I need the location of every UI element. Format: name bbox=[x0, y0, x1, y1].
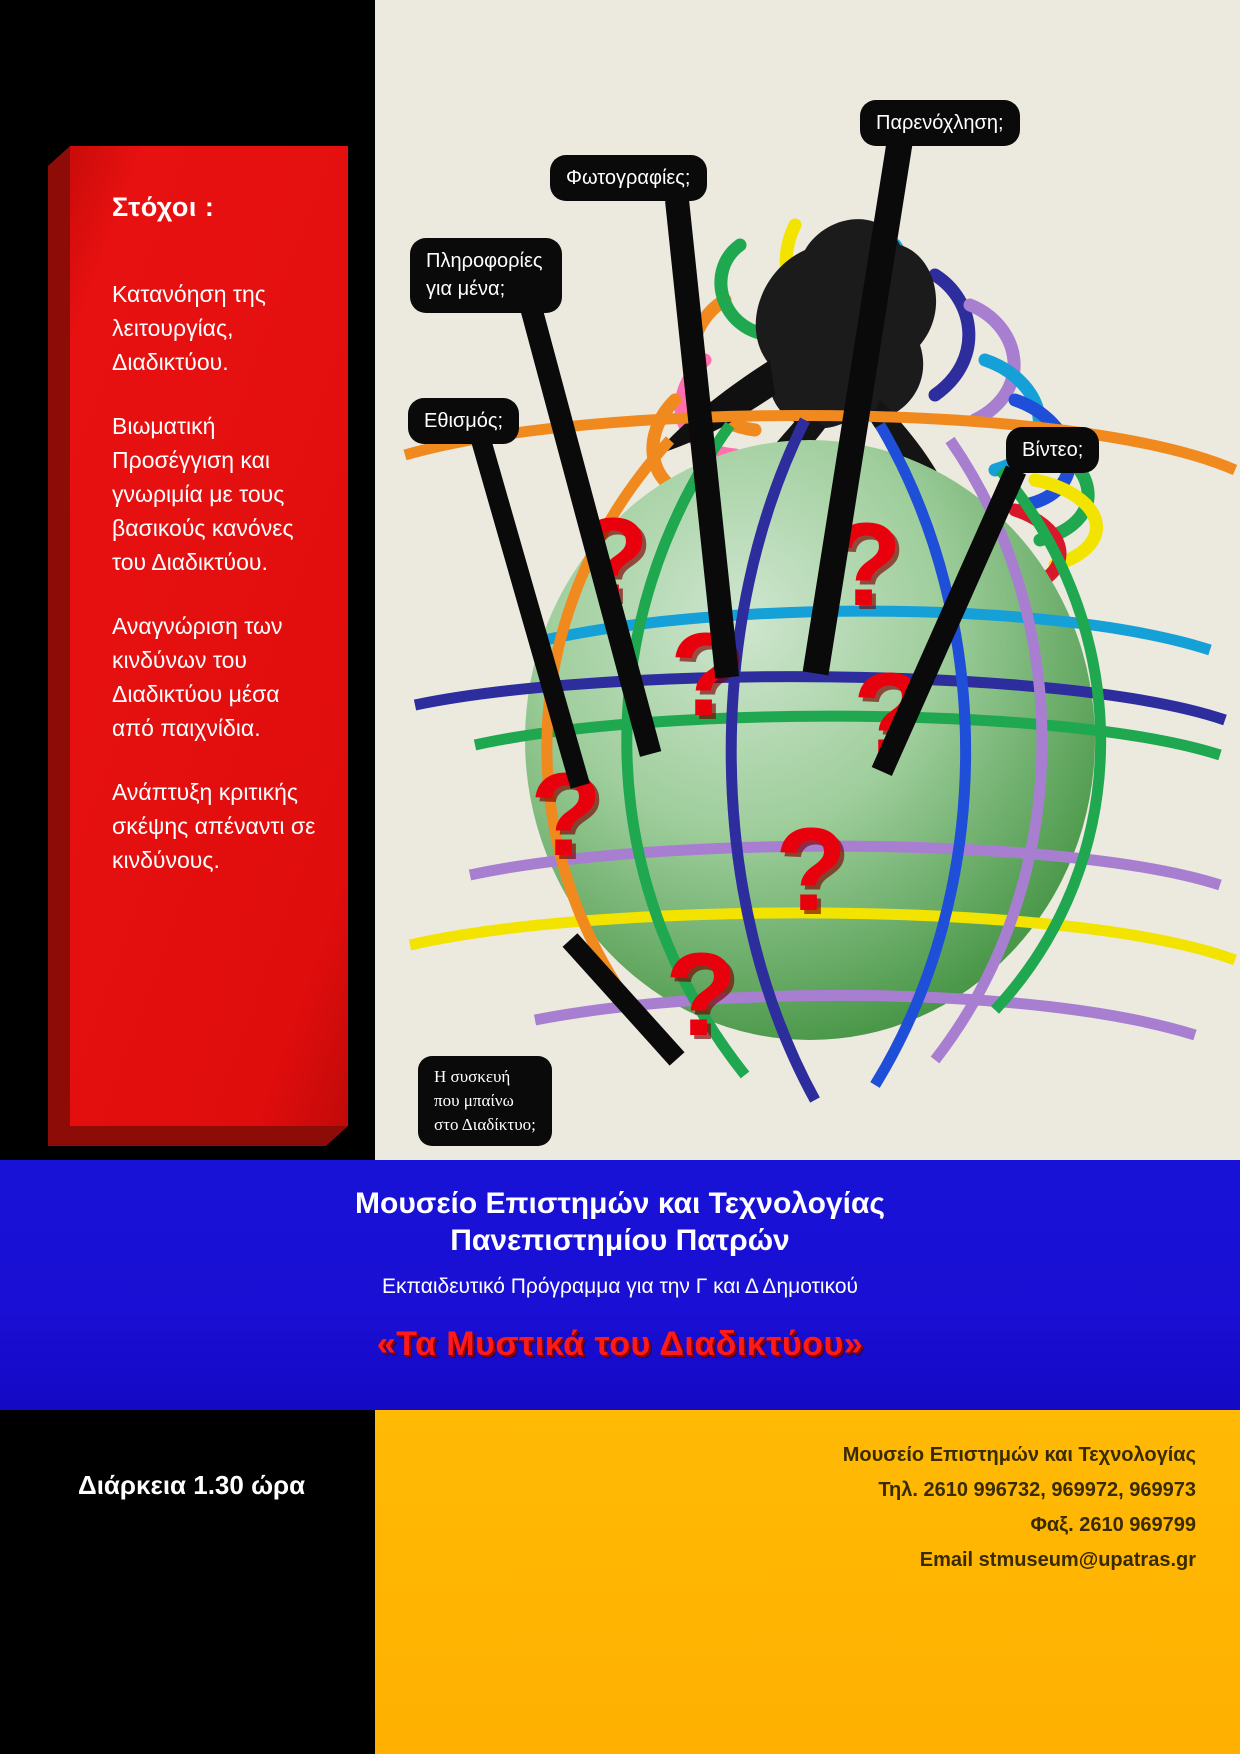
objective-item: Ανάπτυξη κριτικής σκέψης απέναντι σε κιν… bbox=[112, 775, 320, 877]
museum-name-line2: Πανεπιστημίου Πατρών bbox=[0, 1223, 1240, 1260]
callout-photos[interactable]: Φωτογραφίες; bbox=[550, 155, 707, 201]
question-mark: ? bbox=[665, 929, 737, 1061]
objectives-title: Στόχοι : bbox=[112, 192, 320, 223]
museum-name-line1: Μουσείο Επιστημών και Τεχνολογίας bbox=[0, 1186, 1240, 1223]
program-title: «Τα Μυστικά του Διαδικτύου» bbox=[0, 1325, 1240, 1364]
objective-item: Αναγνώριση των κινδύνων του Διαδικτύου μ… bbox=[112, 609, 320, 745]
contact-line: Φαξ. 2610 969799 bbox=[375, 1508, 1196, 1543]
question-mark: ? bbox=[775, 804, 847, 936]
callout-device[interactable]: Η συσκευή που μπαίνω στο Διαδίκτυο; bbox=[418, 1056, 552, 1146]
blue-banner: Μουσείο Επιστημών και Τεχνολογίας Πανεπι… bbox=[0, 1160, 1240, 1410]
globe-illustration: ? ? ? ? ? ? ? bbox=[375, 0, 1240, 1160]
callout-info[interactable]: Πληροφορίες για μένα; bbox=[410, 238, 562, 313]
objective-item: Κατανόηση της λειτουργίας, Διαδικτύου. bbox=[112, 277, 320, 379]
globe-svg: ? ? ? ? ? ? ? bbox=[375, 0, 1240, 1160]
contact-line: Τηλ. 2610 996732, 969972, 969973 bbox=[375, 1473, 1196, 1508]
program-description: Εκπαιδευτικό Πρόγραμμα για την Γ και Δ Δ… bbox=[0, 1275, 1240, 1299]
contact-line: Email stmuseum@upatras.gr bbox=[375, 1543, 1196, 1578]
callout-harassment[interactable]: Παρενόχληση; bbox=[860, 100, 1020, 146]
objective-item: Βιωματική Προσέγγιση και γνωριμία με του… bbox=[112, 409, 320, 579]
callout-addiction[interactable]: Εθισμός; bbox=[408, 398, 519, 444]
poster-root: ? ? ? ? ? ? ? Παρενόχληση; Φωτογραφίες; … bbox=[0, 0, 1240, 1754]
contact-line: Μουσείο Επιστημών και Τεχνολογίας bbox=[375, 1438, 1196, 1473]
duration-label: Διάρκεια 1.30 ώρα bbox=[78, 1470, 305, 1501]
callout-video[interactable]: Βίντεο; bbox=[1006, 427, 1099, 473]
contact-box: Μουσείο Επιστημών και Τεχνολογίας Τηλ. 2… bbox=[375, 1410, 1240, 1754]
objectives-panel: Στόχοι : Κατανόηση της λειτουργίας, Διαδ… bbox=[70, 146, 348, 1126]
